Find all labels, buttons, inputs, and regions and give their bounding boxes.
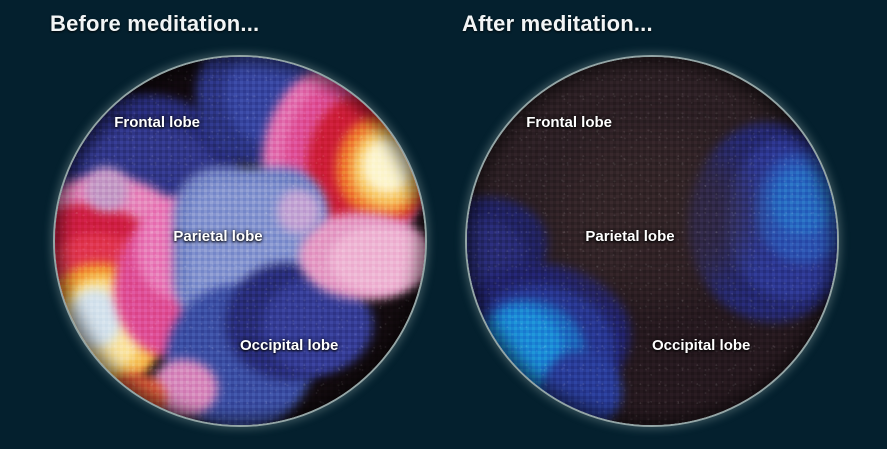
lobe-label-frontal-after: Frontal lobe [526, 114, 612, 131]
panel-title-after: After meditation... [462, 11, 653, 37]
lobe-label-occipital-before: Occipital lobe [240, 337, 338, 354]
scan-image-before: Frontal lobe Parietal lobe Occipital lob… [55, 57, 425, 425]
brain-scan-after: Frontal lobe Parietal lobe Occipital lob… [467, 57, 837, 425]
lobe-label-parietal-before: Parietal lobe [173, 228, 262, 245]
lobe-label-parietal-after: Parietal lobe [585, 228, 674, 245]
brain-scan-comparison-figure: Before meditation... [0, 0, 887, 449]
scan-image-after: Frontal lobe Parietal lobe Occipital lob… [467, 57, 837, 425]
panel-title-before: Before meditation... [50, 11, 259, 37]
lobe-label-occipital-after: Occipital lobe [652, 337, 750, 354]
brain-scan-before: Frontal lobe Parietal lobe Occipital lob… [55, 57, 425, 425]
lobe-label-frontal-before: Frontal lobe [114, 114, 200, 131]
